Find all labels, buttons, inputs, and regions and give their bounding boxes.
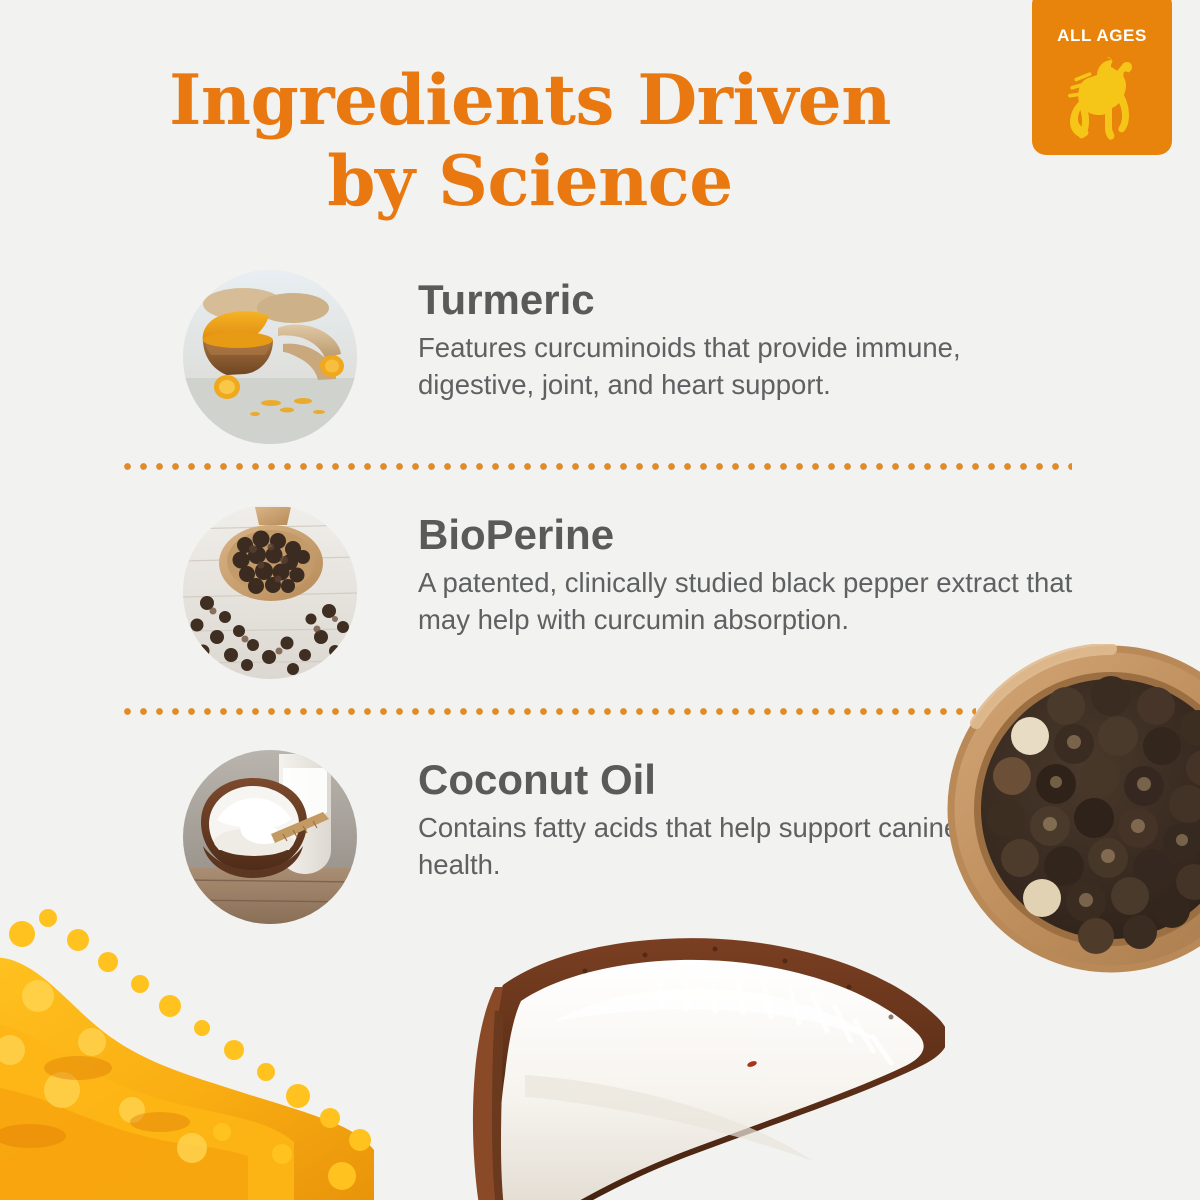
all-ages-badge: ALL AGES [1032,0,1172,155]
coconut-oil-thumbnail [183,750,357,924]
ingredient-name: BioPerine [418,513,1078,557]
bioperine-text-block: BioPerine A patented, clinically studied… [418,505,1078,638]
bioperine-thumbnail [183,505,357,679]
coconut-wedge-photo [445,925,945,1200]
turmeric-powder-pile-photo [0,900,382,1200]
turmeric-text-block: Turmeric Features curcuminoids that prov… [418,270,1078,403]
page-title-line-1: Ingredients Driven [120,66,940,135]
turmeric-thumbnail [183,270,357,444]
dotted-divider [124,463,1072,470]
peppercorn-bowl-photo [946,644,1200,974]
infographic-canvas: ALL AGES Ingredients Driven by Science [0,0,1200,1200]
ingredient-name: Turmeric [418,278,1078,322]
ingredient-row-coconut-oil: Coconut Oil Contains fatty acids that he… [183,750,1078,924]
page-title-line-2: by Science [120,147,940,216]
ingredient-row-bioperine: BioPerine A patented, clinically studied… [183,505,1078,679]
badge-label: ALL AGES [1057,26,1147,46]
sitting-dog-icon [1050,52,1154,140]
ingredient-row-turmeric: Turmeric Features curcuminoids that prov… [183,270,1078,444]
ingredient-description: Features curcuminoids that provide immun… [418,330,1078,403]
dotted-divider [124,708,976,715]
ingredient-description: A patented, clinically studied black pep… [418,565,1078,638]
page-title: Ingredients Driven by Science [120,66,940,216]
